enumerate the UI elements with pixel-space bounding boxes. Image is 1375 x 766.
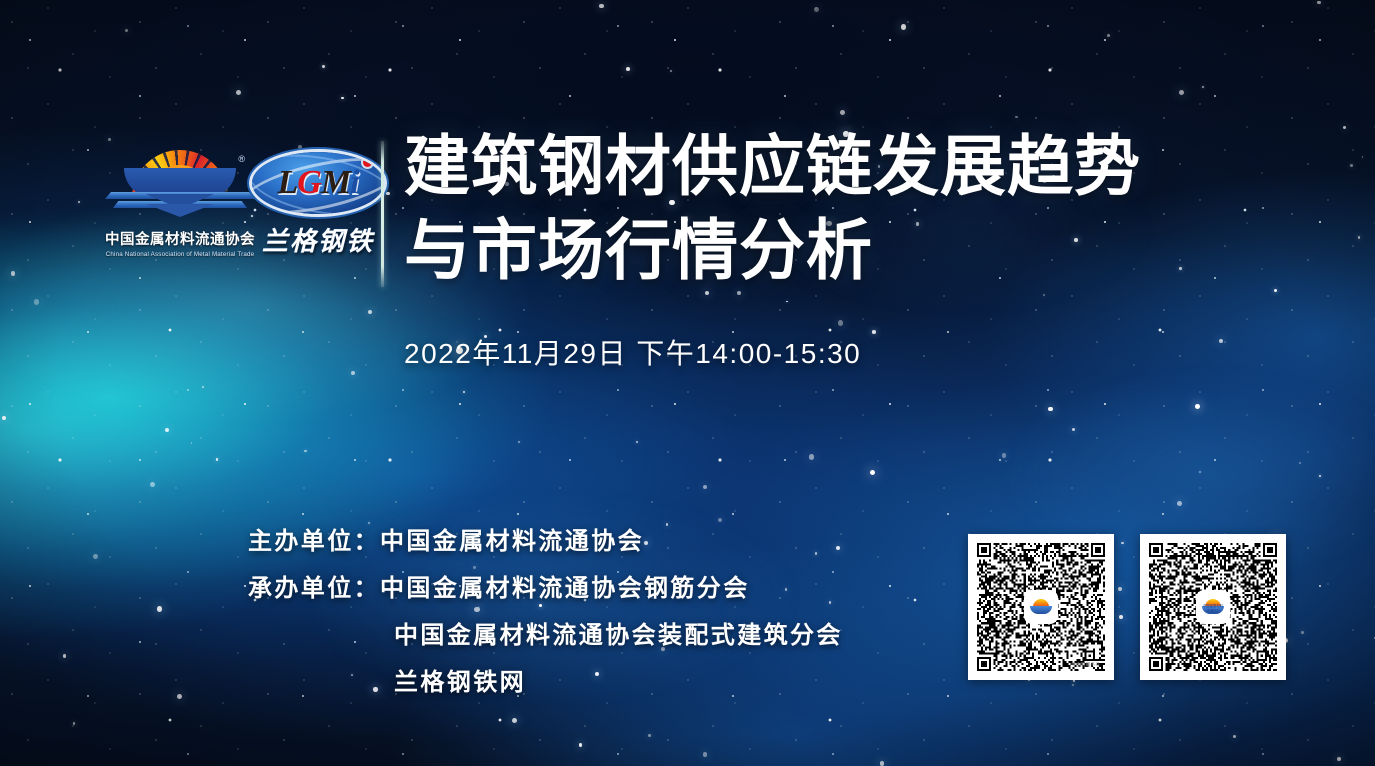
- organizer-line: 主办单位：中国金属材料流通协会: [248, 518, 843, 565]
- lgmi-letter-g: G: [297, 164, 321, 201]
- qr-watermark-left: 中金网服务号: [1071, 662, 1100, 668]
- lgmi-dot-icon: [363, 158, 372, 167]
- event-datetime: 2022年11月29日 下午14:00-15:30: [404, 332, 861, 372]
- title-divider: [381, 141, 384, 287]
- qr-code-right-canvas: 中国金属材料流通协会: [1149, 543, 1277, 671]
- lgmi-acronym: LGMi: [277, 166, 358, 200]
- lgmi-oval-icon: LGMi: [252, 152, 384, 214]
- lgmi-letter-l: L: [277, 164, 297, 201]
- lgmi-letter-i: i: [350, 164, 358, 201]
- organizer-line: 兰格钢铁网: [248, 659, 843, 706]
- qr-code-right[interactable]: 中国金属材料流通协会: [1140, 534, 1286, 680]
- organizer-list: 主办单位：中国金属材料流通协会承办单位：中国金属材料流通协会钢筋分会中国金属材料…: [248, 518, 843, 706]
- qr-code-left[interactable]: 中金网服务号: [968, 534, 1114, 680]
- qr-center-logo-left: [1026, 592, 1056, 622]
- logo-group: CAMT ® 中国金属材料流通协会 China National Associa…: [78, 150, 378, 270]
- camt-mini-icon-right: 中国金属材料流通协会: [1202, 599, 1224, 615]
- camt-mini-icon-left: [1030, 599, 1052, 615]
- camt-wing-icon: [105, 192, 255, 224]
- registered-mark: ®: [238, 154, 245, 164]
- page-title: 建筑钢材供应链发展趋势 与市场行情分析: [404, 124, 1284, 293]
- organizer-line: 承办单位：中国金属材料流通协会钢筋分会: [248, 565, 843, 612]
- lgmi-logo: LGMi 兰格钢铁: [248, 152, 388, 268]
- camt-name-cn: 中国金属材料流通协会: [100, 228, 260, 249]
- qr-center-logo-right: 中国金属材料流通协会: [1198, 592, 1228, 622]
- organizer-line: 中国金属材料流通协会装配式建筑分会: [248, 612, 843, 659]
- camt-logo: CAMT ® 中国金属材料流通协会 China National Associa…: [100, 150, 260, 268]
- qr-code-left-canvas: 中金网服务号: [977, 543, 1105, 671]
- poster-root: CAMT ® 中国金属材料流通协会 China National Associa…: [0, 0, 1375, 766]
- camt-logo-icon: CAMT ®: [105, 150, 255, 224]
- camt-name-en: China National Association of Metal Mate…: [100, 251, 260, 258]
- lgmi-letter-m: M: [321, 164, 350, 201]
- lgmi-name-cn: 兰格钢铁: [248, 221, 388, 258]
- qr-logo-caption: 中国金属材料流通协会: [1202, 603, 1224, 613]
- chevron-lower-icon: [146, 204, 214, 217]
- wing-mini-icon: [1030, 606, 1052, 614]
